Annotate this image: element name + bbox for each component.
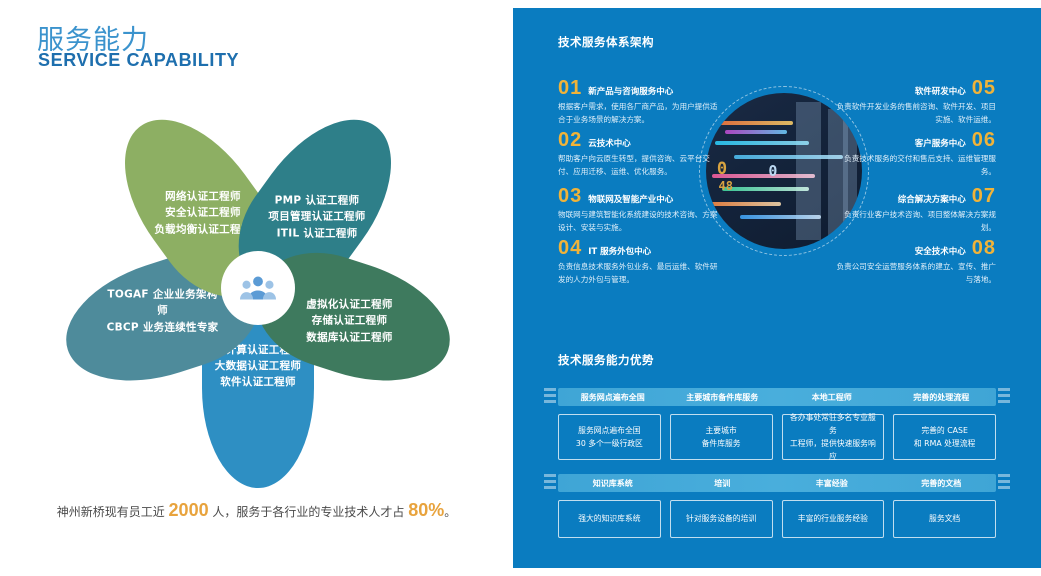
center-heading: 物联网及智能产业中心	[588, 193, 673, 205]
petal-label: 虚拟化认证工程师 存储认证工程师 数据库认证工程师	[293, 297, 405, 346]
table-header-bar: 服务网点遍布全国 主要城市备件库服务 本地工程师 完善的处理流程	[558, 388, 996, 406]
center-item-08[interactable]: 安全技术中心 08 负责公司安全运营服务体系的建立、宣传、推广与落地。	[836, 238, 996, 286]
caption-part2: 人，服务于各行业的专业技术人才占	[209, 505, 409, 519]
center-item-01[interactable]: 01 新产品与咨询服务中心 根据客户需求，使用各厂商产品，为用户提供适合于业务场…	[558, 78, 718, 126]
caption-percent: 80%	[408, 500, 444, 520]
center-heading: 客户服务中心	[915, 137, 966, 149]
center-number: 08	[972, 238, 996, 258]
bar-endcap-left-icon	[544, 388, 556, 406]
center-heading: 云技术中心	[588, 137, 631, 149]
advantage-table-row1: 服务网点遍布全国 主要城市备件库服务 本地工程师 完善的处理流程 服务网点遍布全…	[558, 388, 996, 460]
people-group-icon	[240, 274, 276, 302]
center-heading: 软件研发中心	[915, 85, 966, 97]
column-header: 知识库系统	[558, 478, 668, 489]
center-number: 02	[558, 130, 582, 150]
table-cell[interactable]: 各办事处常驻多名专业服务 工程师，提供快速服务响应	[782, 414, 885, 460]
column-header: 完善的文档	[887, 478, 997, 489]
center-item-03[interactable]: 03 物联网及智能产业中心 物联网与建筑智能化系统建设的技术咨询、方案设计、安装…	[558, 186, 718, 234]
petal-line: 网络认证工程师	[147, 189, 259, 205]
left-panel: 服务能力 SERVICE CAPABILITY 云计算认证工程师 大数据认证工程…	[0, 0, 513, 576]
center-number: 03	[558, 186, 582, 206]
bar-endcap-right-icon	[998, 388, 1010, 406]
petal-label: PMP 认证工程师 项目管理认证工程师 ITIL 认证工程师	[261, 193, 373, 242]
center-number: 06	[972, 130, 996, 150]
bar-endcap-left-icon	[544, 474, 556, 492]
center-description: 根据客户需求，使用各厂商产品，为用户提供适合于业务场景的解决方案。	[558, 101, 718, 126]
section-title-advantages: 技术服务能力优势	[558, 352, 654, 368]
center-heading: 综合解决方案中心	[898, 193, 966, 205]
petal-line: 虚拟化认证工程师	[293, 297, 405, 313]
column-header: 培训	[668, 478, 778, 489]
center-description: 物联网与建筑智能化系统建设的技术咨询、方案设计、安装与实施。	[558, 209, 718, 234]
center-heading: 新产品与咨询服务中心	[588, 85, 673, 97]
caption-part1: 神州新桥现有员工近	[57, 505, 169, 519]
slide-page: 服务能力 SERVICE CAPABILITY 云计算认证工程师 大数据认证工程…	[0, 0, 1041, 576]
center-description: 帮助客户向云原生转型，提供咨询、云平台交付、应用迁移、运维、优化服务。	[558, 153, 718, 178]
table-cell[interactable]: 服务网点遍布全国 30 多个一级行政区	[558, 414, 661, 460]
capability-flower-diagram: 云计算认证工程师 大数据认证工程师 软件认证工程师 TOGAF 企业业务架构师 …	[48, 88, 468, 488]
page-title-en: SERVICE CAPABILITY	[38, 50, 239, 71]
right-panel: 技术服务体系架构 0 0 48 01	[513, 8, 1041, 568]
petal-line: PMP 认证工程师	[261, 193, 373, 209]
center-description: 负责信息技术服务外包业务、最后运维、软件研发的人力外包与管理。	[558, 261, 718, 286]
table-cell[interactable]: 丰富的行业服务经验	[782, 500, 885, 538]
table-cell[interactable]: 完善的 CASE 和 RMA 处理流程	[893, 414, 996, 460]
center-heading: IT 服务外包中心	[588, 245, 651, 257]
center-item-07[interactable]: 综合解决方案中心 07 负责行业客户技术咨询、项目整体解决方案规划。	[836, 186, 996, 234]
center-description: 负责技术服务的交付和售后支持、运维管理服务。	[836, 153, 996, 178]
flower-hub	[221, 251, 295, 325]
center-description: 负责行业客户技术咨询、项目整体解决方案规划。	[836, 209, 996, 234]
bar-endcap-right-icon	[998, 474, 1010, 492]
table-header-bar: 知识库系统 培训 丰富经验 完善的文档	[558, 474, 996, 492]
column-header: 本地工程师	[777, 392, 887, 403]
center-number: 04	[558, 238, 582, 258]
table-cell[interactable]: 服务文档	[893, 500, 996, 538]
petal-label: TOGAF 企业业务架构师 CBCP 业务连续性专家	[107, 287, 219, 336]
column-header: 丰富经验	[777, 478, 887, 489]
center-number: 05	[972, 78, 996, 98]
center-description: 负责公司安全运营服务体系的建立、宣传、推广与落地。	[836, 261, 996, 286]
advantage-table-row2: 知识库系统 培训 丰富经验 完善的文档 强大的知识库系统 针对服务设备的培训 丰…	[558, 474, 996, 538]
petal-line: CBCP 业务连续性专家	[107, 319, 219, 335]
table-cell[interactable]: 强大的知识库系统	[558, 500, 661, 538]
petal-line: ITIL 认证工程师	[261, 225, 373, 241]
caption-employee-count: 2000	[169, 500, 209, 520]
column-header: 服务网点遍布全国	[558, 392, 668, 403]
petal-line: 软件认证工程师	[202, 374, 314, 390]
center-number: 07	[972, 186, 996, 206]
employee-caption: 神州新桥现有员工近 2000 人，服务于各行业的专业技术人才占 80%。	[0, 500, 513, 521]
section-title-architecture: 技术服务体系架构	[558, 34, 654, 50]
center-item-05[interactable]: 软件研发中心 05 负责软件开发业务的售前咨询、软件开发、项目实施、软件运维。	[836, 78, 996, 126]
center-number: 01	[558, 78, 582, 98]
center-item-06[interactable]: 客户服务中心 06 负责技术服务的交付和售后支持、运维管理服务。	[836, 130, 996, 178]
petal-line: 项目管理认证工程师	[261, 209, 373, 225]
column-header: 完善的处理流程	[887, 392, 997, 403]
petal-line: 存储认证工程师	[293, 313, 405, 329]
table-cell[interactable]: 主要城市 备件库服务	[670, 414, 773, 460]
petal-line: 数据库认证工程师	[293, 329, 405, 345]
petal-line: TOGAF 企业业务架构师	[107, 287, 219, 320]
center-heading: 安全技术中心	[915, 245, 966, 257]
center-item-02[interactable]: 02 云技术中心 帮助客户向云原生转型，提供咨询、云平台交付、应用迁移、运维、优…	[558, 130, 718, 178]
caption-part3: 。	[444, 505, 456, 519]
table-cell[interactable]: 针对服务设备的培训	[670, 500, 773, 538]
table-body: 强大的知识库系统 针对服务设备的培训 丰富的行业服务经验 服务文档	[558, 500, 996, 538]
column-header: 主要城市备件库服务	[668, 392, 778, 403]
center-description: 负责软件开发业务的售前咨询、软件开发、项目实施、软件运维。	[836, 101, 996, 126]
table-body: 服务网点遍布全国 30 多个一级行政区 主要城市 备件库服务 各办事处常驻多名专…	[558, 414, 996, 460]
center-item-04[interactable]: 04 IT 服务外包中心 负责信息技术服务外包业务、最后运维、软件研发的人力外包…	[558, 238, 718, 286]
petal-line: 大数据认证工程师	[202, 358, 314, 374]
